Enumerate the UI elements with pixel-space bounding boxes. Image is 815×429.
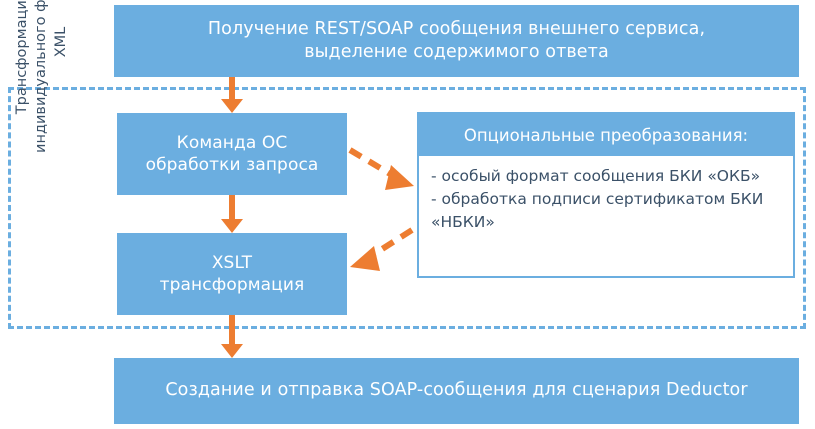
box-send-text: Создание и отправка SOAP-сообщения для с… xyxy=(165,379,747,402)
optional-panel-header-text: Опциональные преобразования: xyxy=(464,126,748,145)
box-receive-line2: выделение содержимого ответа xyxy=(304,42,609,62)
box-receive-line1: Получение REST/SOAP сообщения внешнего с… xyxy=(208,19,705,39)
process-box-xslt-transformation[interactable]: XSLT трансформация xyxy=(117,233,347,315)
box-xslt-text: XSLT трансформация xyxy=(160,252,305,297)
optional-panel-header: Опциональные преобразования: xyxy=(419,114,793,156)
box-os-command-line1: Команда ОС xyxy=(177,133,288,153)
box-xslt-line1: XSLT xyxy=(212,253,252,273)
box-receive-text: Получение REST/SOAP сообщения внешнего с… xyxy=(208,18,705,64)
optional-item-1: - особый формат сообщения БКИ «ОКБ» xyxy=(431,165,781,188)
optional-transformations-panel[interactable]: Опциональные преобразования: - особый фо… xyxy=(417,112,795,278)
process-box-os-command[interactable]: Команда ОС обработки запроса xyxy=(117,113,347,195)
box-xslt-line2: трансформация xyxy=(160,275,305,295)
optional-panel-body: - особый формат сообщения БКИ «ОКБ» - об… xyxy=(419,156,793,234)
process-box-receive-message[interactable]: Получение REST/SOAP сообщения внешнего с… xyxy=(114,5,799,77)
box-os-command-text: Команда ОС обработки запроса xyxy=(146,132,319,177)
optional-item-2: - обработка подписи сертификатом БКИ «НБ… xyxy=(431,188,781,234)
process-box-send-soap[interactable]: Создание и отправка SOAP-сообщения для с… xyxy=(114,358,799,424)
box-os-command-line2: обработки запроса xyxy=(146,155,319,175)
process-diagram: Получение REST/SOAP сообщения внешнего с… xyxy=(0,0,815,429)
